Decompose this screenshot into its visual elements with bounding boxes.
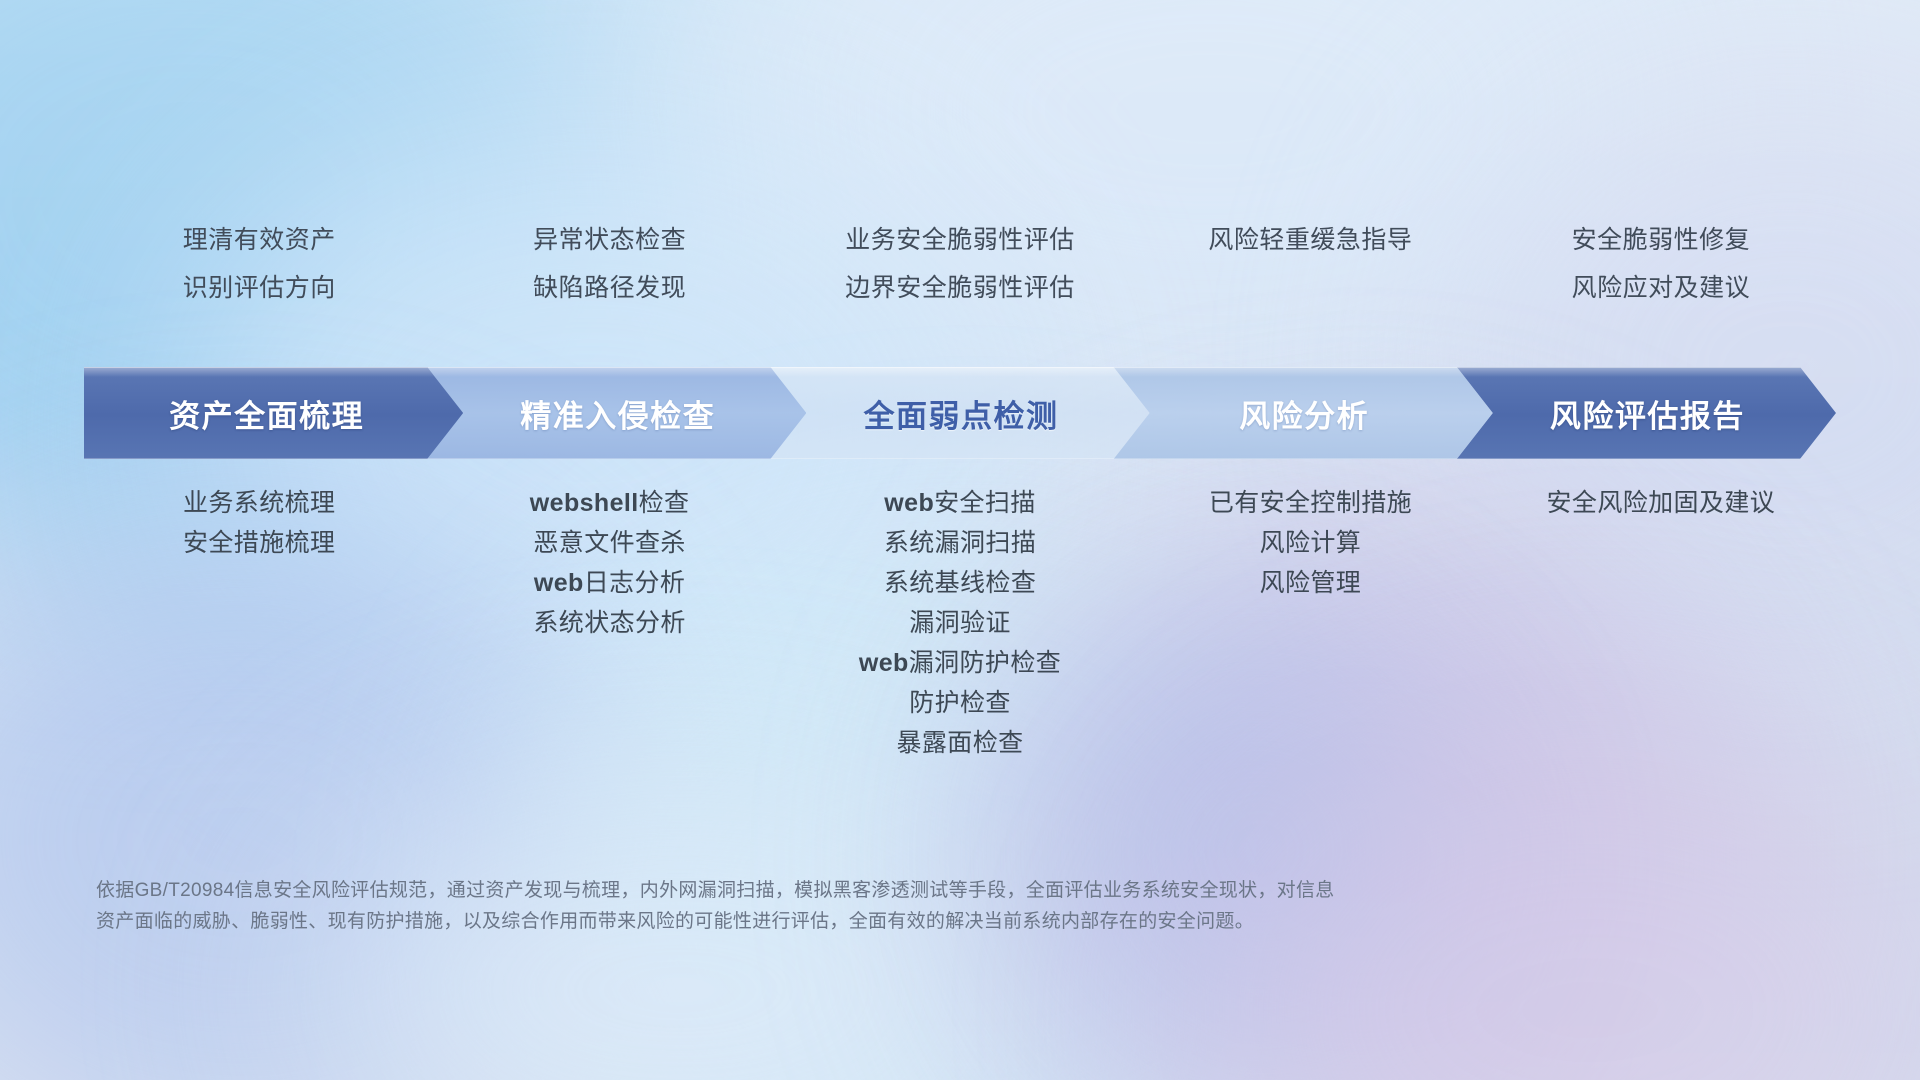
footer-description: 依据GB/T20984信息安全风险评估规范，通过资产发现与梳理，内外网漏洞扫描，… — [96, 876, 1616, 938]
activity-item: 风险管理 — [1135, 571, 1485, 596]
outcome-item: 边界安全脆弱性评估 — [785, 276, 1135, 301]
outcome-item: 异常状态检查 — [434, 228, 784, 253]
activity-prefix: web — [884, 489, 934, 517]
stage-chevron-weakness-detection[interactable]: 全面弱点检测 — [770, 367, 1149, 459]
activity-item: 系统漏洞扫描 — [785, 531, 1135, 556]
stage-label: 风险评估报告 — [1550, 391, 1745, 436]
outcome-item: 安全脆弱性修复 — [1486, 228, 1836, 253]
stage-chevron-intrusion-inspection[interactable]: 精准入侵检查 — [427, 367, 806, 459]
footer-line-1: 依据GB/T20984信息安全风险评估规范，通过资产发现与梳理，内外网漏洞扫描，… — [96, 876, 1616, 907]
activity-item: 漏洞验证 — [785, 611, 1135, 636]
stage-label: 全面弱点检测 — [863, 391, 1058, 436]
stage-activities-intrusion-inspection: webshell检查恶意文件查杀web日志分析系统状态分析 — [434, 491, 784, 636]
activity-item: web安全扫描 — [785, 491, 1135, 516]
activity-prefix: webshell — [530, 489, 639, 517]
activity-item: 安全风险加固及建议 — [1486, 491, 1836, 516]
stage-activities-risk-analysis: 已有安全控制措施风险计算风险管理 — [1135, 491, 1485, 596]
stage-activities-asset-inventory: 业务系统梳理安全措施梳理 — [84, 491, 434, 556]
stage-label: 风险分析 — [1239, 391, 1369, 436]
stage-outcomes-weakness-detection: 业务安全脆弱性评估边界安全脆弱性评估 — [785, 228, 1135, 301]
stage-label: 资产全面梳理 — [169, 391, 364, 436]
outcome-item: 理清有效资产 — [84, 228, 434, 253]
risk-assessment-process-diagram: 理清有效资产识别评估方向异常状态检查缺陷路径发现业务安全脆弱性评估边界安全脆弱性… — [0, 0, 1920, 1080]
activity-text: 安全扫描 — [934, 489, 1036, 517]
activity-text: 检查 — [639, 489, 690, 517]
activity-item: 防护检查 — [785, 691, 1135, 716]
activity-item: 暴露面检查 — [785, 731, 1135, 756]
stage-outcomes-risk-report: 安全脆弱性修复风险应对及建议 — [1486, 228, 1836, 301]
activity-item: 风险计算 — [1135, 531, 1485, 556]
stage-chevron-risk-analysis[interactable]: 风险分析 — [1114, 367, 1493, 459]
activity-item: 业务系统梳理 — [84, 491, 434, 516]
activity-item: 安全措施梳理 — [84, 531, 434, 556]
activity-item: web漏洞防护检查 — [785, 651, 1135, 676]
activity-item: 系统状态分析 — [434, 611, 784, 636]
activity-prefix: web — [859, 649, 909, 677]
stage-activities-risk-report: 安全风险加固及建议 — [1486, 491, 1836, 516]
stage-outcomes-intrusion-inspection: 异常状态检查缺陷路径发现 — [434, 228, 784, 301]
activity-item: 系统基线检查 — [785, 571, 1135, 596]
outcome-item: 风险轻重缓急指导 — [1135, 228, 1485, 253]
activity-item: 已有安全控制措施 — [1135, 491, 1485, 516]
outcome-item: 识别评估方向 — [84, 276, 434, 301]
activity-item: webshell检查 — [434, 491, 784, 516]
stage-label: 精准入侵检查 — [520, 391, 715, 436]
stage-activities-weakness-detection: web安全扫描系统漏洞扫描系统基线检查漏洞验证web漏洞防护检查防护检查暴露面检… — [785, 491, 1135, 756]
activity-prefix: web — [534, 569, 584, 597]
activity-item: 恶意文件查杀 — [434, 531, 784, 556]
stage-chevron-asset-inventory[interactable]: 资产全面梳理 — [84, 367, 463, 459]
outcome-item: 业务安全脆弱性评估 — [785, 228, 1135, 253]
stage-outcomes-asset-inventory: 理清有效资产识别评估方向 — [84, 228, 434, 301]
footer-line-2: 资产面临的威胁、脆弱性、现有防护措施，以及综合作用而带来风险的可能性进行评估，全… — [96, 907, 1616, 938]
activity-text: 日志分析 — [584, 569, 686, 597]
outcome-item: 缺陷路径发现 — [434, 276, 784, 301]
stage-outcomes-risk-analysis: 风险轻重缓急指导 — [1135, 228, 1485, 301]
stage-chevron-risk-report[interactable]: 风险评估报告 — [1457, 367, 1836, 459]
activity-item: web日志分析 — [434, 571, 784, 596]
process-stage-banner: 资产全面梳理精准入侵检查全面弱点检测风险分析风险评估报告 — [84, 367, 1836, 459]
outcome-item: 风险应对及建议 — [1486, 276, 1836, 301]
activity-text: 漏洞防护检查 — [909, 649, 1061, 677]
stage-activities-row: 业务系统梳理安全措施梳理webshell检查恶意文件查杀web日志分析系统状态分… — [84, 491, 1836, 756]
stage-outcomes-row: 理清有效资产识别评估方向异常状态检查缺陷路径发现业务安全脆弱性评估边界安全脆弱性… — [84, 228, 1836, 301]
